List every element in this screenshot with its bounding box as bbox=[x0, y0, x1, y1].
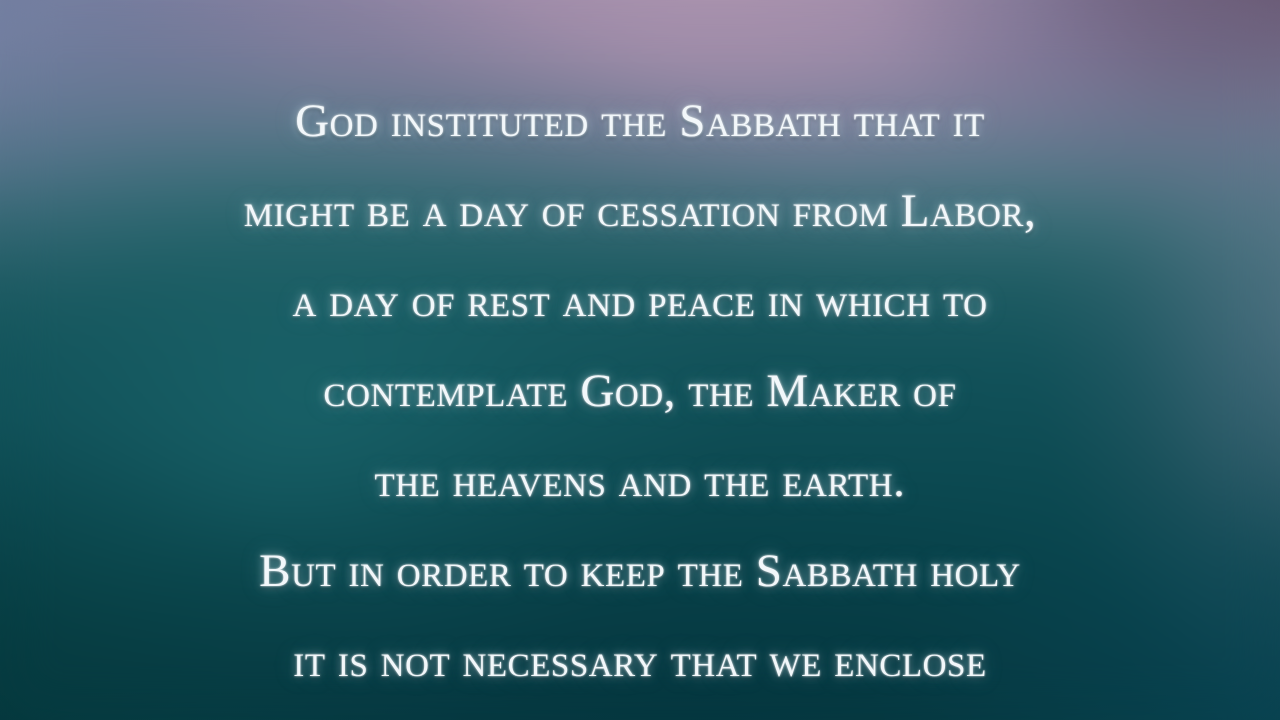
quote-line: a day of rest and peace in which to bbox=[0, 256, 1280, 346]
quote-text-block: God instituted the Sabbath that it might… bbox=[0, 76, 1280, 706]
quote-slide: God instituted the Sabbath that it might… bbox=[0, 0, 1280, 720]
quote-line: contemplate God, the Maker of bbox=[0, 346, 1280, 436]
quote-line: might be a day of cessation from Labor, bbox=[0, 166, 1280, 256]
quote-line: it is not necessary that we enclose bbox=[0, 616, 1280, 706]
quote-line: But in order to keep the Sabbath holy bbox=[0, 526, 1280, 616]
quote-line: God instituted the Sabbath that it bbox=[0, 76, 1280, 166]
quote-line: the heavens and the earth. bbox=[0, 436, 1280, 526]
